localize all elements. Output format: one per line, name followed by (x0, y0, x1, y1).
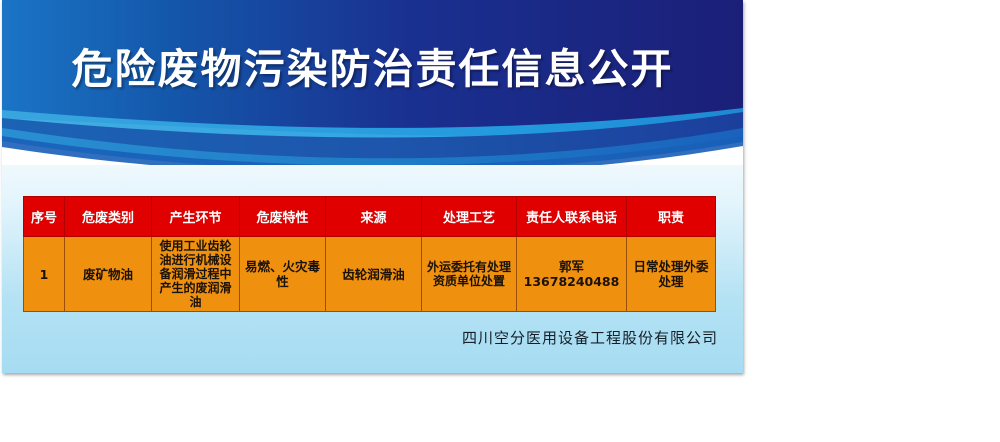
column-header-contact: 责任人联系电话 (517, 197, 627, 237)
table-header-row: 序号 危废类别 产生环节 危废特性 来源 处理工艺 责任人联系电话 职责 (24, 197, 716, 237)
column-header-process: 处理工艺 (422, 197, 517, 237)
cell-stage: 使用工业齿轮油进行机械设备润滑过程中产生的废润滑油 (152, 237, 240, 312)
column-header-duty: 职责 (627, 197, 716, 237)
cell-category: 废矿物油 (65, 237, 152, 312)
cell-no: 1 (24, 237, 65, 312)
company-name: 四川空分医用设备工程股份有限公司 (2, 328, 718, 348)
column-header-stage: 产生环节 (152, 197, 240, 237)
cell-source: 齿轮润滑油 (326, 237, 422, 312)
cell-contact: 郭军 13678240488 (517, 237, 627, 312)
contact-person-name: 郭军 (520, 259, 623, 274)
cell-process: 外运委托有处理资质单位处置 (422, 237, 517, 312)
header-banner: 危险废物污染防治责任信息公开 (2, 0, 743, 165)
hazardous-waste-table: 序号 危废类别 产生环节 危废特性 来源 处理工艺 责任人联系电话 职责 1 废… (23, 196, 716, 312)
column-header-property: 危废特性 (240, 197, 326, 237)
column-header-category: 危废类别 (65, 197, 152, 237)
poster: 危险废物污染防治责任信息公开 序号 危废类别 产生环节 危废特性 来源 处理工艺… (2, 0, 743, 373)
column-header-no: 序号 (24, 197, 65, 237)
table-row: 1 废矿物油 使用工业齿轮油进行机械设备润滑过程中产生的废润滑油 易燃、火灾毒性… (24, 237, 716, 312)
contact-person-phone: 13678240488 (520, 274, 623, 289)
cell-property: 易燃、火灾毒性 (240, 237, 326, 312)
cell-duty: 日常处理外委处理 (627, 237, 716, 312)
page-title: 危险废物污染防治责任信息公开 (2, 44, 743, 94)
column-header-source: 来源 (326, 197, 422, 237)
